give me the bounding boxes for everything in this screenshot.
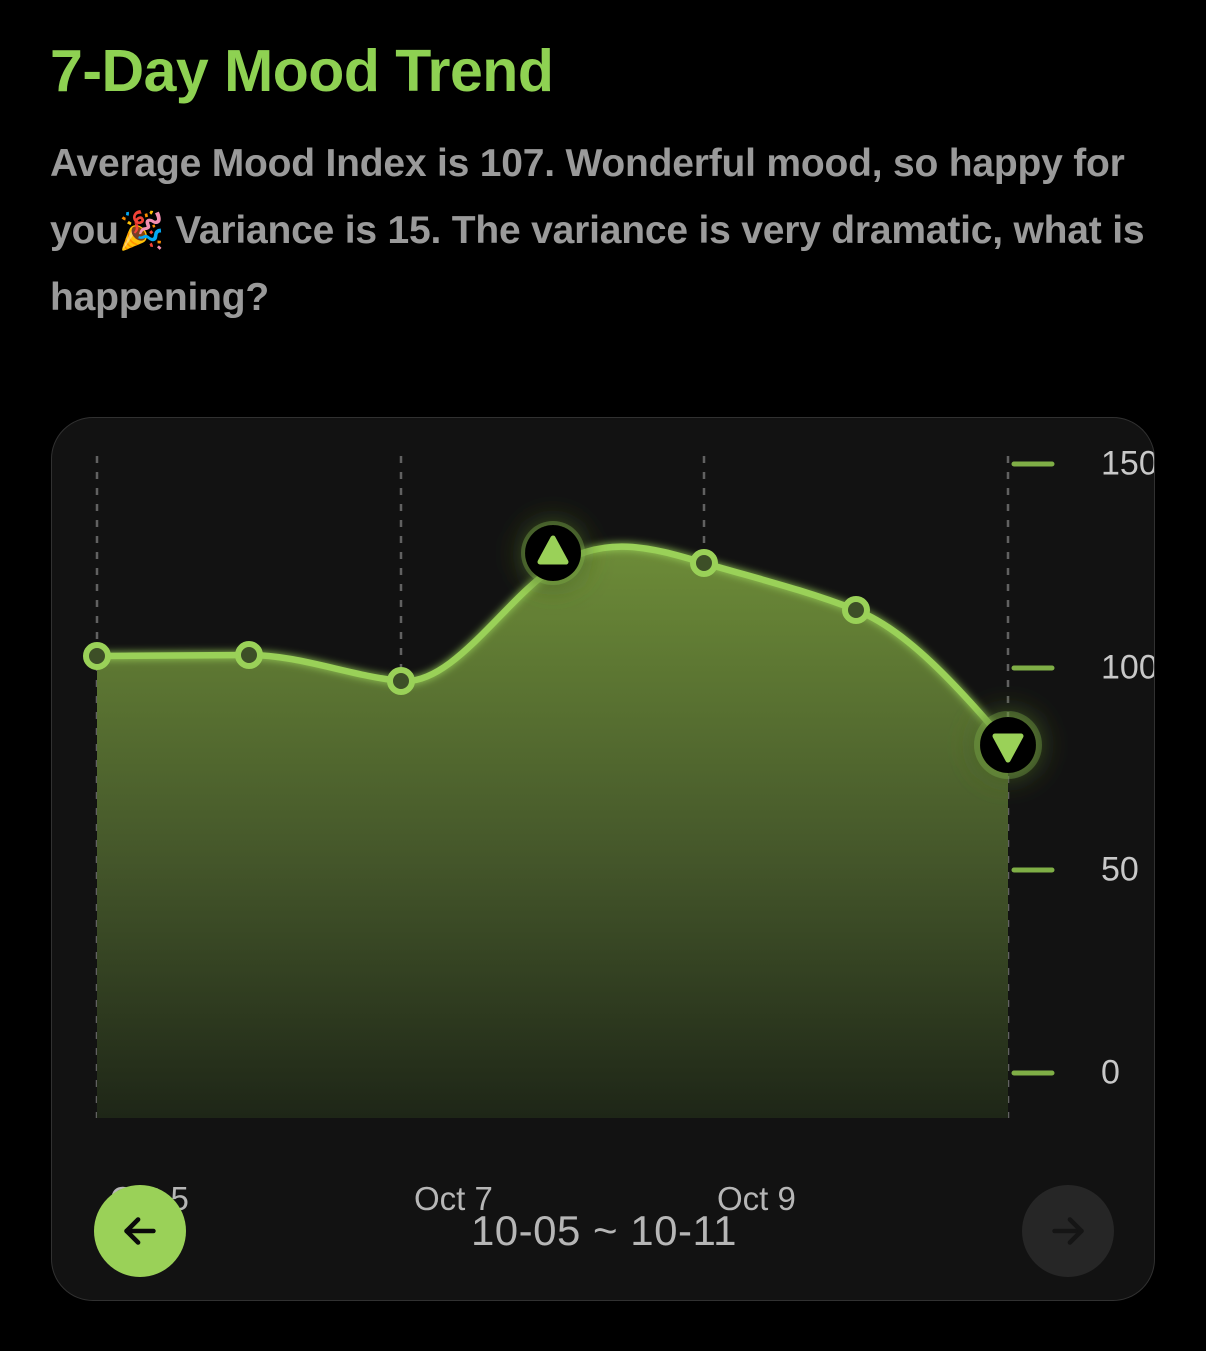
header: 7-Day Mood Trend Average Mood Index is 1… (50, 38, 1170, 331)
chart-navigation: 10-05 ~ 10-11 (52, 1160, 1155, 1301)
date-range-label: 10-05 ~ 10-11 (471, 1207, 737, 1255)
summary-text-part2: Variance is 15. The variance is very dra… (50, 209, 1144, 319)
next-week-button[interactable] (1022, 1185, 1114, 1277)
min-marker[interactable] (974, 711, 1042, 779)
arrow-right-icon (1045, 1208, 1091, 1254)
previous-week-button[interactable] (94, 1185, 186, 1277)
mood-trend-chart[interactable] (52, 418, 1155, 1158)
chart-area: 150 100 50 0 Oct 5 Oct 7 Oct 9 (52, 418, 1155, 1158)
page-title: 7-Day Mood Trend (50, 38, 1170, 104)
mood-trend-page: 7-Day Mood Trend Average Mood Index is 1… (0, 0, 1206, 1351)
party-popper-icon: 🎉 (119, 210, 165, 251)
chart-area-fill (97, 547, 1008, 1118)
max-marker[interactable] (521, 521, 585, 585)
arrow-left-icon (117, 1208, 163, 1254)
summary-text: Average Mood Index is 107. Wonderful moo… (50, 130, 1170, 331)
chart-card: 150 100 50 0 Oct 5 Oct 7 Oct 9 (51, 417, 1155, 1301)
